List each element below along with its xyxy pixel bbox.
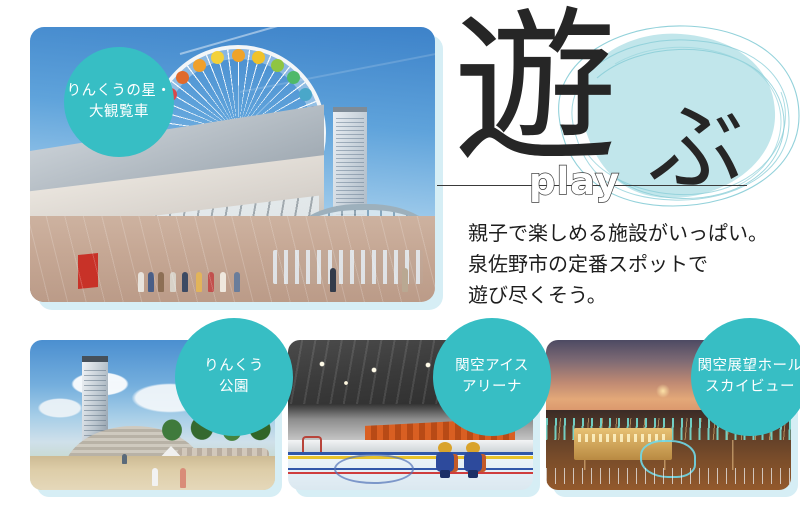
thumbnail-card-kanku-skyview[interactable]: 関空展望ホール スカイビュー bbox=[546, 340, 791, 490]
thumbnail-label-badge[interactable]: 関空展望ホール スカイビュー bbox=[691, 318, 800, 436]
ferris-wheel-cabin bbox=[252, 51, 265, 64]
brick-plaza-ground bbox=[30, 216, 435, 302]
ferris-wheel-cabin bbox=[271, 59, 284, 72]
red-sandwich-board-sign bbox=[78, 253, 98, 289]
ferris-wheel-cabin bbox=[232, 49, 245, 62]
thumbnail-label-line-1: りんくう bbox=[204, 356, 264, 377]
title-romaji: play bbox=[529, 160, 620, 203]
thumbnail-label-line-1: 関空展望ホール bbox=[698, 356, 800, 377]
description-text: 親子で楽しめる施設がいっぱい。 泉佐野市の定番スポットで 遊び尽くそう。 bbox=[468, 218, 798, 311]
thumbnail-label-line-2: スカイビュー bbox=[705, 377, 795, 398]
ferris-wheel-cabin bbox=[287, 71, 300, 84]
mascot-skater-right bbox=[464, 442, 482, 478]
rink-yellow-line bbox=[288, 456, 533, 459]
hero-photo-block[interactable]: りんくうの星・ 大観覧車 bbox=[30, 27, 435, 302]
description-line-2: 泉佐野市の定番スポットで bbox=[468, 249, 798, 280]
rink-dasher-board bbox=[288, 440, 533, 455]
thumbnail-label-badge[interactable]: りんくう 公園 bbox=[175, 318, 293, 436]
rink-faceoff-circle bbox=[334, 454, 414, 484]
title-block: 遊 ぶ play bbox=[435, 14, 800, 209]
thumbnail-card-kanku-ice-arena[interactable]: 関空アイス アリーナ bbox=[288, 340, 533, 490]
title-kana: ぶ bbox=[648, 100, 744, 196]
hero-label-line-2: 大観覧車 bbox=[89, 102, 149, 123]
hero-label-line-1: りんくうの星・ bbox=[67, 81, 172, 102]
thumbnail-label-line-2: 公園 bbox=[219, 377, 249, 398]
hero-photo-label-badge[interactable]: りんくうの星・ 大観覧車 bbox=[64, 47, 174, 157]
ferris-wheel-cabin bbox=[299, 88, 312, 101]
rink-goal bbox=[302, 436, 322, 452]
mascot-skater-left bbox=[436, 442, 454, 478]
perimeter-fence bbox=[546, 468, 791, 484]
title-kanji: 遊 bbox=[453, 6, 618, 171]
outdoor-chairs bbox=[273, 250, 423, 284]
thumbnail-label-line-1: 関空アイス bbox=[455, 356, 529, 377]
description-line-1: 親子で楽しめる施設がいっぱい。 bbox=[468, 218, 798, 249]
description-line-3: 遊び尽くそう。 bbox=[468, 280, 798, 311]
ferris-wheel-cabin bbox=[193, 59, 206, 72]
thumbnail-card-rinku-park[interactable]: りんくう 公園 bbox=[30, 340, 275, 490]
thumbnail-label-line-2: アリーナ bbox=[462, 377, 522, 398]
thumbnail-label-badge[interactable]: 関空アイス アリーナ bbox=[433, 318, 551, 436]
sun-glow bbox=[656, 384, 670, 398]
